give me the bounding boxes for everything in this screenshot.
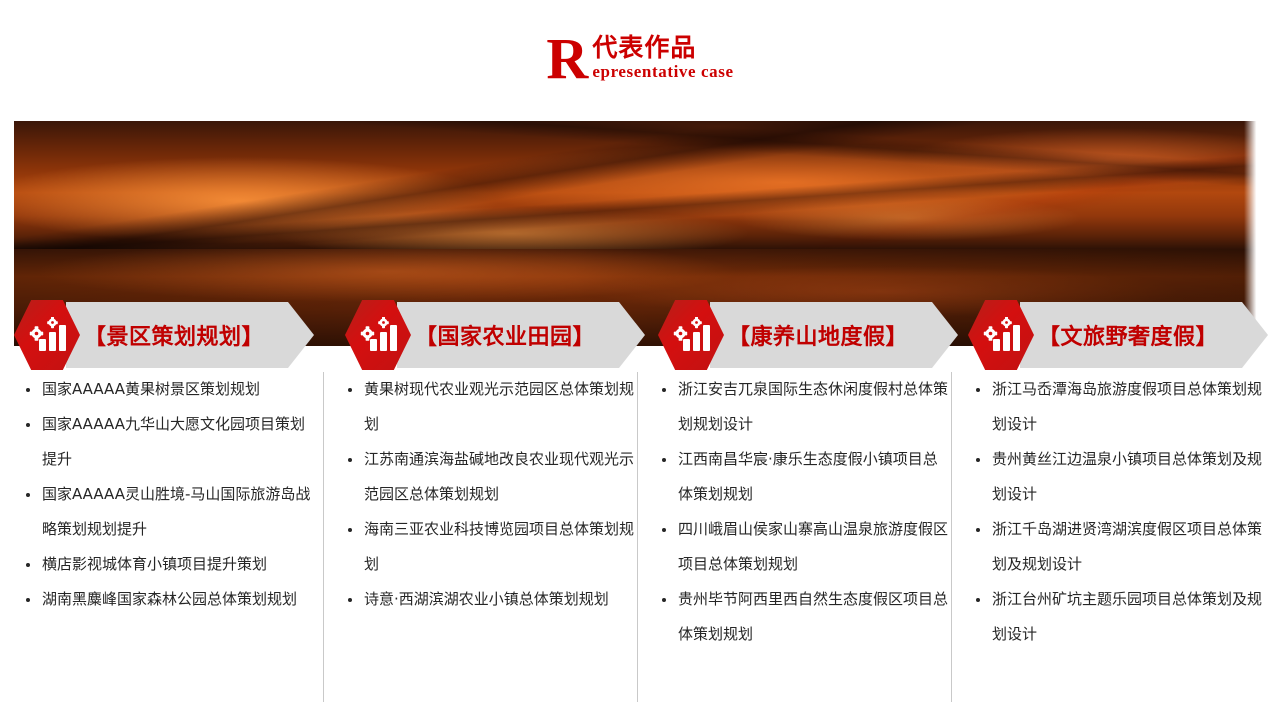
case-column-2: 浙江安吉兀泉国际生态休闲度假村总体策划规划设计 江西南昌华宸·康乐生态度假小镇项… xyxy=(650,372,950,720)
page-title-english: epresentative case xyxy=(592,61,733,83)
category-banner-0[interactable]: 【景区策划规划】 xyxy=(14,300,314,370)
drop-cap-r: R xyxy=(546,30,587,88)
category-banner-3[interactable]: 【文旅野奢度假】 xyxy=(968,300,1268,370)
list-item[interactable]: 浙江马岙潭海岛旅游度假项目总体策划规划设计 xyxy=(964,372,1264,442)
list-item[interactable]: 浙江台州矿坑主题乐园项目总体策划及规划设计 xyxy=(964,582,1264,652)
category-title-2: 【康养山地度假】 xyxy=(728,300,908,370)
list-item[interactable]: 国家AAAAA九华山大愿文化园项目策划提升 xyxy=(14,407,314,477)
list-item[interactable]: 国家AAAAA灵山胜境-马山国际旅游岛战略策划规划提升 xyxy=(14,477,314,547)
list-item[interactable]: 国家AAAAA黄果树景区策划规划 xyxy=(14,372,314,407)
list-item[interactable]: 诗意·西湖滨湖农业小镇总体策划规划 xyxy=(336,582,636,617)
category-banner-row: 【景区策划规划】 xyxy=(0,300,1280,370)
list-item[interactable]: 浙江安吉兀泉国际生态休闲度假村总体策划规划设计 xyxy=(650,372,950,442)
page-title: R 代表作品 epresentative case xyxy=(0,34,1280,104)
case-columns: 国家AAAAA黄果树景区策划规划 国家AAAAA九华山大愿文化园项目策划提升 国… xyxy=(0,372,1280,720)
case-list-1: 黄果树现代农业观光示范园区总体策划规划 江苏南通滨海盐碱地改良农业现代观光示范园… xyxy=(336,372,636,617)
case-column-0: 国家AAAAA黄果树景区策划规划 国家AAAAA九华山大愿文化园项目策划提升 国… xyxy=(14,372,314,720)
case-list-0: 国家AAAAA黄果树景区策划规划 国家AAAAA九华山大愿文化园项目策划提升 国… xyxy=(14,372,314,617)
list-item[interactable]: 浙江千岛湖进贤湾湖滨度假区项目总体策划及规划设计 xyxy=(964,512,1264,582)
list-item[interactable]: 江苏南通滨海盐碱地改良农业现代观光示范园区总体策划规划 xyxy=(336,442,636,512)
category-title-3: 【文旅野奢度假】 xyxy=(1038,300,1218,370)
list-item[interactable]: 贵州毕节阿西里西自然生态度假区项目总体策划规划 xyxy=(650,582,950,652)
list-item[interactable]: 湖南黑麋峰国家森林公园总体策划规划 xyxy=(14,582,314,617)
case-column-3: 浙江马岙潭海岛旅游度假项目总体策划规划设计 贵州黄丝江边温泉小镇项目总体策划及规… xyxy=(964,372,1264,720)
title-inner: R 代表作品 epresentative case xyxy=(546,34,733,83)
list-item[interactable]: 海南三亚农业科技博览园项目总体策划规划 xyxy=(336,512,636,582)
cloud-streaks xyxy=(14,121,1258,249)
category-banner-1[interactable]: 【国家农业田园】 xyxy=(345,300,645,370)
category-banner-2[interactable]: 【康养山地度假】 xyxy=(658,300,958,370)
column-divider xyxy=(637,372,638,702)
column-divider xyxy=(951,372,952,702)
case-list-2: 浙江安吉兀泉国际生态休闲度假村总体策划规划设计 江西南昌华宸·康乐生态度假小镇项… xyxy=(650,372,950,652)
column-divider xyxy=(323,372,324,702)
case-column-1: 黄果树现代农业观光示范园区总体策划规划 江苏南通滨海盐碱地改良农业现代观光示范园… xyxy=(336,372,636,720)
case-list-3: 浙江马岙潭海岛旅游度假项目总体策划规划设计 贵州黄丝江边温泉小镇项目总体策划及规… xyxy=(964,372,1264,652)
list-item[interactable]: 横店影视城体育小镇项目提升策划 xyxy=(14,547,314,582)
list-item[interactable]: 黄果树现代农业观光示范园区总体策划规划 xyxy=(336,372,636,442)
list-item[interactable]: 贵州黄丝江边温泉小镇项目总体策划及规划设计 xyxy=(964,442,1264,512)
category-title-0: 【景区策划规划】 xyxy=(84,300,264,370)
category-title-1: 【国家农业田园】 xyxy=(415,300,595,370)
list-item[interactable]: 四川峨眉山侯家山寨高山温泉旅游度假区项目总体策划规划 xyxy=(650,512,950,582)
list-item[interactable]: 江西南昌华宸·康乐生态度假小镇项目总体策划规划 xyxy=(650,442,950,512)
page-title-chinese: 代表作品 xyxy=(592,34,733,61)
